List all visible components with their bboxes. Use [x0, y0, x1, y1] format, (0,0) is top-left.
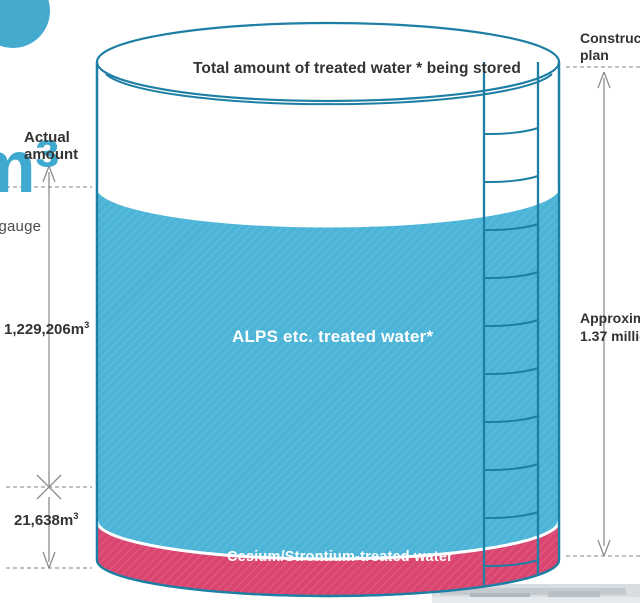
upper-volume-number: 1,229,206m: [4, 321, 84, 338]
approx-capacity-line2: 1.37 millio: [580, 328, 640, 346]
actual-amount-line2: amount: [24, 147, 78, 164]
up-arrow-icon: [0, 0, 4, 26]
infographic-canvas: m³ Total amount of treated water * being…: [0, 0, 640, 603]
construction-plan-line2: plan: [580, 47, 640, 64]
lower-volume-unit-exponent: 3: [73, 511, 78, 521]
tank-title: Total amount of treated water * being st…: [193, 60, 521, 78]
storage-tank-diagram: [0, 0, 640, 603]
lower-volume-value: 21,638m3: [14, 511, 78, 529]
cesium-strontium-water-label: Cesium/Strontium-treated water: [227, 549, 453, 565]
upper-volume-unit-exponent: 3: [84, 320, 89, 330]
approx-capacity-line1: Approxim: [580, 310, 640, 328]
approx-capacity-label: Approxim 1.37 millio: [580, 310, 640, 345]
upper-volume-value: 1,229,206m3: [4, 320, 89, 338]
construction-plan-line1: Construct: [580, 30, 640, 47]
alps-treated-water-volume: [97, 186, 559, 596]
alps-treated-water-label: ALPS etc. treated water*: [232, 327, 433, 347]
actual-amount-line1: Actual: [24, 130, 78, 147]
actual-amount-label: Actual amount: [24, 130, 78, 164]
lower-volume-number: 21,638m: [14, 512, 73, 529]
construction-plan-label: Construct plan: [580, 30, 640, 63]
water-gauge-label: ter gauge: [0, 218, 41, 235]
